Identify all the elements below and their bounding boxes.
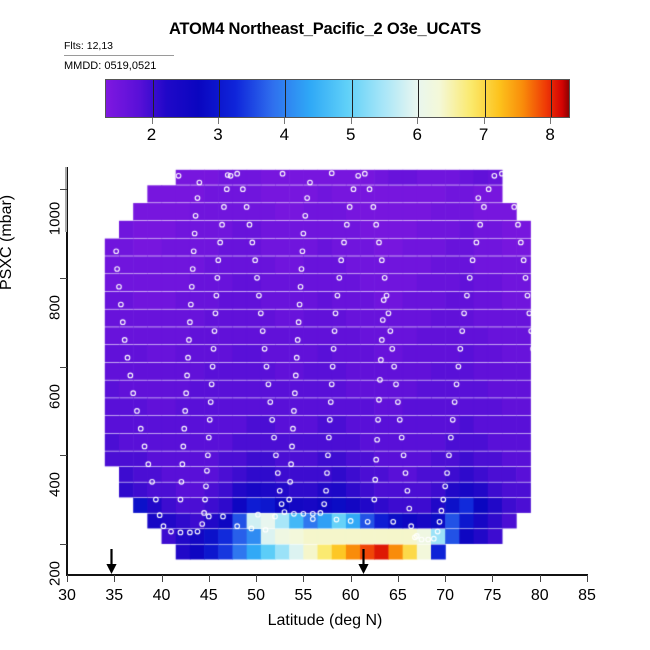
colorbar-tick-label: 4 [264, 125, 304, 145]
x-axis-tick-label: 60 [326, 587, 376, 605]
x-axis-tick [67, 575, 68, 582]
colorbar-divider [551, 80, 552, 117]
x-axis-tick [587, 575, 588, 582]
profile-arrow-icon [105, 549, 118, 575]
flight-track-markers [67, 167, 587, 575]
y-axis-tick-label: 400 [47, 455, 64, 515]
colorbar-divider [153, 80, 154, 117]
y-axis-tick-label: 600 [47, 366, 64, 426]
colorbar-tick-label: 3 [198, 125, 238, 145]
colorbar-tick-label: 6 [397, 125, 437, 145]
x-axis-tick [303, 575, 304, 582]
colorbar-gradient [105, 79, 570, 118]
colorbar-tick [152, 118, 153, 124]
x-axis-tick-label: 30 [42, 587, 92, 605]
colorbar-tick [417, 118, 418, 124]
colorbar-divider [352, 80, 353, 117]
profile-arrow-icon [357, 549, 370, 575]
x-axis-tick [209, 575, 210, 582]
x-axis-tick [445, 575, 446, 582]
x-axis-tick-label: 45 [184, 587, 234, 605]
colorbar-tick-label: 2 [132, 125, 172, 145]
x-axis-title: Latitude (deg N) [0, 612, 650, 630]
x-axis-tick [398, 575, 399, 582]
annotation-divider [64, 55, 174, 56]
x-axis-tick [540, 575, 541, 582]
x-axis-tick [114, 575, 115, 582]
y-axis-spine [66, 167, 68, 575]
x-axis-tick [162, 575, 163, 582]
colorbar-divider [485, 80, 486, 117]
colorbar-divider [285, 80, 286, 117]
x-axis-tick-label: 85 [562, 587, 612, 605]
colorbar-gradient-fill [106, 80, 569, 117]
x-axis-tick [351, 575, 352, 582]
x-axis-tick-label: 50 [231, 587, 281, 605]
x-axis-tick-label: 70 [420, 587, 470, 605]
y-axis-title: PSXC (mbar) [0, 195, 16, 290]
heatmap-canvas-wrap [67, 167, 587, 575]
plot-area: 2004006008001000 30354045505560657075808… [67, 167, 587, 575]
y-axis-tick-label: 1000 [47, 189, 64, 249]
y-axis-tick-label: 800 [47, 277, 64, 337]
page-title: ATOM4 Northeast_Pacific_2 O3e_UCATS [0, 20, 650, 39]
plot-window: ATOM4 Northeast_Pacific_2 O3e_UCATS Flts… [0, 0, 650, 650]
mmdd-label: MMDD: 0519,0521 [64, 60, 156, 72]
flights-label: Flts: 12,13 [64, 40, 113, 52]
colorbar-tick [284, 118, 285, 124]
colorbar-tick [218, 118, 219, 124]
colorbar-tick [484, 118, 485, 124]
x-axis-tick [492, 575, 493, 582]
y-axis-spine-upper [65, 167, 67, 232]
colorbar-tick-label: 5 [331, 125, 371, 145]
x-axis-tick-label: 40 [137, 587, 187, 605]
colorbar-divider [219, 80, 220, 117]
x-axis-tick-label: 80 [515, 587, 565, 605]
colorbar-divider [418, 80, 419, 117]
colorbar-tick [351, 118, 352, 124]
x-axis-tick-label: 75 [467, 587, 517, 605]
colorbar-tick-label: 8 [530, 125, 570, 145]
x-axis-tick-label: 35 [89, 587, 139, 605]
x-axis-tick-label: 65 [373, 587, 423, 605]
x-axis-spine [66, 574, 588, 576]
colorbar-tick [550, 118, 551, 124]
x-axis-tick [256, 575, 257, 582]
x-axis-tick-label: 55 [278, 587, 328, 605]
colorbar-tick-label: 7 [464, 125, 504, 145]
colorbar: 2345678 [105, 79, 570, 118]
